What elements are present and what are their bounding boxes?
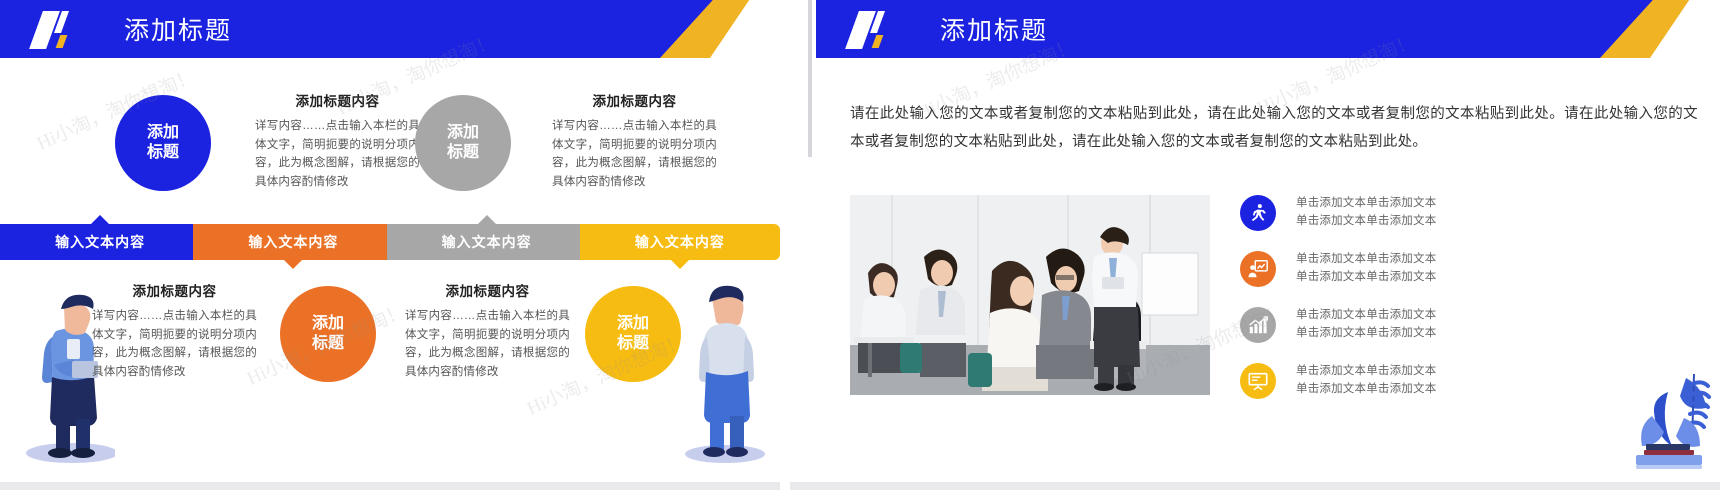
- list-item-text: 单击添加文本单击添加文本 单击添加文本单击添加文本: [1296, 195, 1436, 231]
- body-paragraph: 请在此处输入您的文本或者复制您的文本粘贴到此处，请在此处输入您的文本或者复制您的…: [850, 100, 1698, 157]
- band-segment-label: 输入文本内容: [55, 232, 145, 252]
- top-circle-2[interactable]: 添加 标题: [415, 95, 511, 191]
- bottom-text-block-2: 添加标题内容 详写内容……点击输入本栏的具体文字，简明扼要的说明分项内容，此为概…: [405, 280, 570, 382]
- list-item-text: 单击添加文本单击添加文本 单击添加文本单击添加文本: [1296, 251, 1436, 287]
- band-segment-label: 输入文本内容: [442, 232, 532, 252]
- slide-right: 添加标题 请在此处输入您的文本或者复制您的文本粘贴到此处，请在此处输入您的文本或…: [790, 0, 1720, 490]
- running-person-icon: [1240, 195, 1276, 231]
- bottom-content-row: 添加标题内容 详写内容……点击输入本栏的具体文字，简明扼要的说明分项内容，此为概…: [0, 268, 780, 478]
- left-slide-bottom-strip: [0, 482, 780, 490]
- bottom-text-block-1: 添加标题内容 详写内容……点击输入本栏的具体文字，简明扼要的说明分项内容，此为概…: [92, 280, 257, 382]
- bar-chart-growth-icon: [1240, 307, 1276, 343]
- top-circle-1[interactable]: 添加 标题: [115, 95, 211, 191]
- block-body: 详写内容……点击输入本栏的具体文字，简明扼要的说明分项内容，此为概念图解，请根据…: [255, 117, 420, 192]
- right-slide-header: 添加标题: [816, 0, 1720, 58]
- top-text-block-2: 添加标题内容 详写内容……点击输入本栏的具体文字，简明扼要的说明分项内容，此为概…: [552, 90, 717, 192]
- block-title: 添加标题内容: [552, 90, 717, 110]
- bottom-circle-1[interactable]: 添加 标题: [280, 286, 376, 382]
- list-item[interactable]: 单击添加文本单击添加文本 单击添加文本单击添加文本: [1240, 300, 1710, 349]
- circle-label-line2: 标题: [447, 143, 479, 163]
- block-body: 详写内容……点击输入本栏的具体文字，简明扼要的说明分项内容，此为概念图解，请根据…: [552, 117, 717, 192]
- right-slide-bottom-strip: [790, 482, 1720, 490]
- circle-label-line1: 添加: [447, 123, 479, 143]
- circle-label-line2: 标题: [147, 143, 179, 163]
- header-left-rule: [808, 0, 812, 157]
- block-title: 添加标题内容: [92, 280, 257, 300]
- whiteboard-icon: [1240, 363, 1276, 399]
- band-segment-2[interactable]: 输入文本内容: [193, 224, 393, 260]
- page-title: 添加标题: [124, 11, 232, 47]
- band-segment-1[interactable]: 输入文本内容: [0, 224, 200, 260]
- circle-label-line1: 添加: [312, 314, 344, 334]
- slash-logo-icon: [34, 9, 90, 49]
- list-item-text: 单击添加文本单击添加文本 单击添加文本单击添加文本: [1296, 307, 1436, 343]
- list-item[interactable]: 单击添加文本单击添加文本 单击添加文本单击添加文本: [1240, 244, 1710, 293]
- top-text-block-1: 添加标题内容 详写内容……点击输入本栏的具体文字，简明扼要的说明分项内容，此为概…: [255, 90, 420, 192]
- slash-logo-icon: [850, 9, 906, 49]
- band-segment-3[interactable]: 输入文本内容: [387, 224, 587, 260]
- bottom-circle-2[interactable]: 添加 标题: [585, 286, 681, 382]
- slide-left: 添加标题 添加 标题 添加标题内容 详写内容……点击输入本栏的具体文字，简明扼要…: [0, 0, 780, 490]
- top-content-row: 添加 标题 添加标题内容 详写内容……点击输入本栏的具体文字，简明扼要的说明分项…: [0, 70, 780, 220]
- left-slide-header: 添加标题: [0, 0, 780, 58]
- color-band: 输入文本内容 输入文本内容 输入文本内容 输入文本内容: [0, 224, 780, 260]
- page-title: 添加标题: [940, 11, 1048, 47]
- list-item-text: 单击添加文本单击添加文本 单击添加文本单击添加文本: [1296, 363, 1436, 399]
- list-item[interactable]: 单击添加文本单击添加文本 单击添加文本单击添加文本: [1240, 188, 1710, 237]
- block-title: 添加标题内容: [255, 90, 420, 110]
- band-segment-label: 输入文本内容: [635, 232, 725, 252]
- notch-up-icon: [91, 215, 109, 224]
- presenter-chart-icon: [1240, 251, 1276, 287]
- notch-up-icon: [478, 215, 496, 224]
- block-body: 详写内容……点击输入本栏的具体文字，简明扼要的说明分项内容，此为概念图解，请根据…: [405, 307, 570, 382]
- slide-divider: [780, 0, 790, 490]
- circle-label-line2: 标题: [312, 334, 344, 354]
- circle-label-line2: 标题: [617, 334, 649, 354]
- circle-label-line1: 添加: [617, 314, 649, 334]
- circle-label-line1: 添加: [147, 123, 179, 143]
- plant-books-icon: [1624, 358, 1716, 484]
- classroom-training-photo: [850, 195, 1210, 395]
- block-title: 添加标题内容: [405, 280, 570, 300]
- person-standing-grey-icon: [685, 276, 765, 464]
- band-segment-4[interactable]: 输入文本内容: [580, 224, 780, 260]
- band-segment-label: 输入文本内容: [248, 232, 338, 252]
- two-slide-stage: 添加标题 添加 标题 添加标题内容 详写内容……点击输入本栏的具体文字，简明扼要…: [0, 0, 1720, 490]
- block-body: 详写内容……点击输入本栏的具体文字，简明扼要的说明分项内容，此为概念图解，请根据…: [92, 307, 257, 382]
